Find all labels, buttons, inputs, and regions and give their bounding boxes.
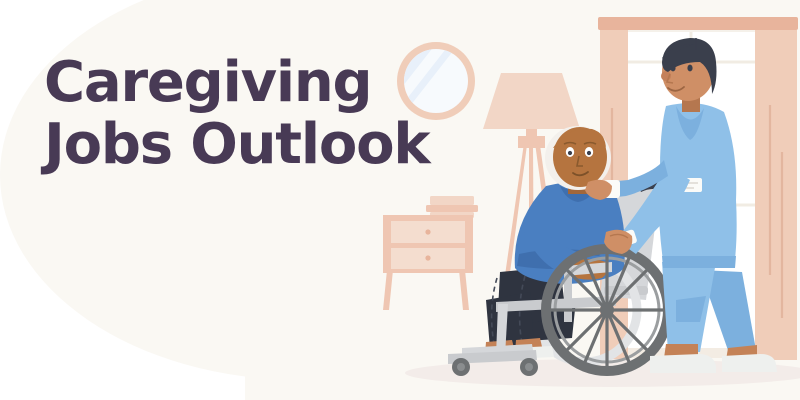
caregiver-eye-left	[670, 65, 675, 72]
caregiver-layer	[0, 0, 800, 400]
caregiver-eye-right	[687, 65, 692, 72]
caregiver	[585, 38, 737, 373]
caregiver-shoe-near	[650, 354, 716, 373]
caregiving-jobs-outlook-banner: Caregiving Jobs Outlook	[0, 0, 800, 400]
caregiver-waistband	[662, 256, 736, 268]
caregiver-hand-near	[604, 230, 632, 254]
